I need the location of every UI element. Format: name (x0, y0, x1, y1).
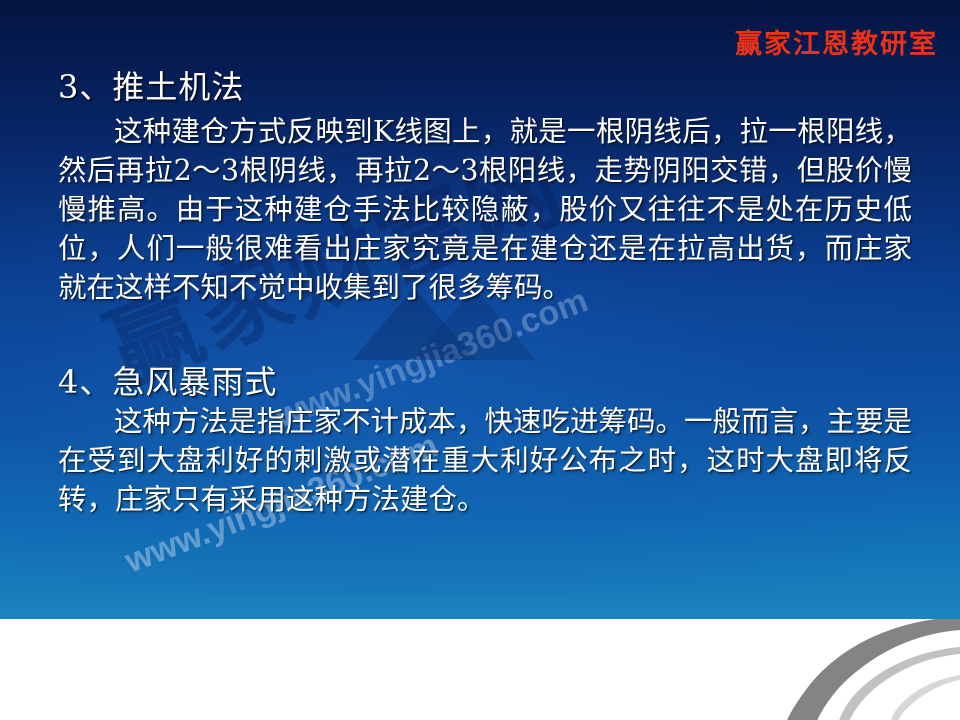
section-body-4: 这种方法是指庄家不计成本，快速吃进筹码。一般而言，主要是在受到大盘利好的刺激或潜… (58, 402, 912, 519)
slide-content: 3、推土机法 这种建仓方式反映到K线图上，就是一根阴线后，拉一根阳线，然后再拉2… (0, 0, 960, 619)
section-heading-4: 4、急风暴雨式 (58, 357, 277, 403)
slide-footer: 江 赢 恩 家 赢家财富网 www.yjcf360.com 地址：郑州市经三路与… (0, 619, 960, 720)
presentation-slide: 赢家财富网 www.yingjia360.com www.yingjia360.… (0, 0, 960, 720)
section-body-3: 这种建仓方式反映到K线图上，就是一根阴线后，拉一根阳线，然后再拉2～3根阴线，再… (58, 112, 912, 307)
section-heading-3: 3、推土机法 (58, 62, 244, 108)
swoosh-decoration-icon (750, 619, 960, 720)
